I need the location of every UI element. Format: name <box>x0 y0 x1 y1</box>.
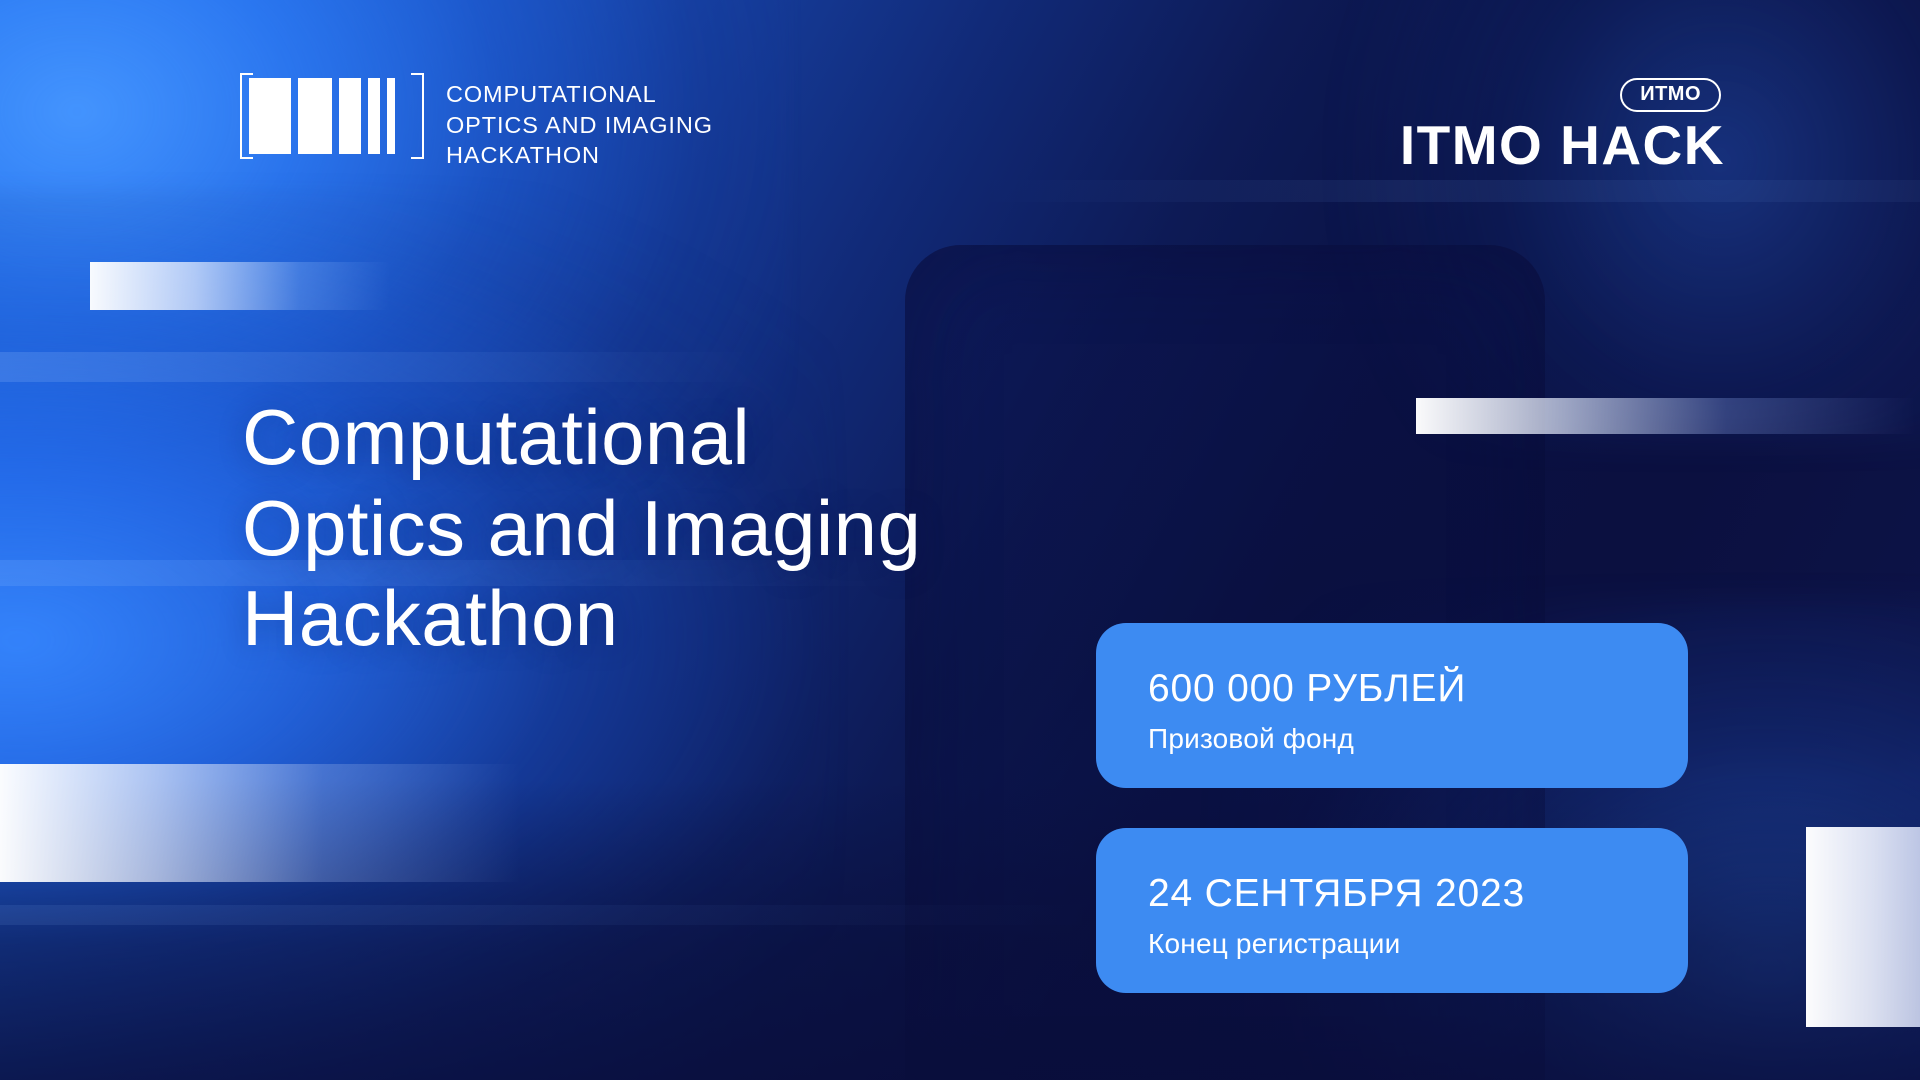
aperture-bars-icon <box>240 78 424 154</box>
logo-bar-5 <box>387 78 395 154</box>
logo-bar-4 <box>368 78 380 154</box>
itmo-badge-label: ИТМО <box>1640 84 1701 104</box>
page-title: Computational Optics and Imaging Hackath… <box>242 392 921 663</box>
logo-bar-1 <box>249 78 291 154</box>
itmo-hack-wordmark: ITMO HACK <box>1400 118 1725 173</box>
registration-deadline-card: 24 СЕНТЯБРЯ 2023 Конец регистрации <box>1096 828 1688 993</box>
coih-logo-text-line-3: HACKATHON <box>446 140 713 171</box>
bracket-corner-top-left <box>240 73 253 75</box>
itmo-badge: ИТМО <box>1620 78 1721 112</box>
bracket-corner-top-right <box>411 73 424 75</box>
logo-bar-2 <box>298 78 332 154</box>
prize-fund-amount: 600 000 РУБЛЕЙ <box>1148 669 1636 710</box>
prize-fund-card: 600 000 РУБЛЕЙ Призовой фонд <box>1096 623 1688 788</box>
light-streak-upper-left <box>90 262 390 310</box>
page-title-line-3: Hackathon <box>242 573 921 663</box>
poster-root: COMPUTATIONAL OPTICS AND IMAGING HACKATH… <box>0 0 1920 1080</box>
bracket-corner-bottom-left <box>240 157 253 159</box>
light-streak-faint-a <box>0 352 760 382</box>
registration-deadline-label: Конец регистрации <box>1148 929 1636 960</box>
coih-logo-lockup: COMPUTATIONAL OPTICS AND IMAGING HACKATH… <box>240 78 713 171</box>
light-streak-faint-top-right <box>980 180 1920 202</box>
registration-deadline-date: 24 СЕНТЯБРЯ 2023 <box>1148 874 1636 915</box>
page-title-line-2: Optics and Imaging <box>242 483 921 573</box>
prize-fund-label: Призовой фонд <box>1148 724 1636 755</box>
light-streak-right <box>1416 398 1916 434</box>
itmo-hack-logo-lockup: ИТМО ITMO HACK <box>1400 78 1725 173</box>
coih-logo-text: COMPUTATIONAL OPTICS AND IMAGING HACKATH… <box>446 78 713 171</box>
bracket-corner-bottom-right <box>411 157 424 159</box>
coih-logo-text-line-1: COMPUTATIONAL <box>446 79 713 110</box>
light-block-bottom-right <box>1806 827 1920 1027</box>
coih-logo-text-line-2: OPTICS AND IMAGING <box>446 110 713 141</box>
page-title-line-1: Computational <box>242 392 921 482</box>
logo-bar-3 <box>339 78 361 154</box>
light-streak-lower-left <box>0 764 520 882</box>
light-streak-faint-c <box>0 905 1100 925</box>
